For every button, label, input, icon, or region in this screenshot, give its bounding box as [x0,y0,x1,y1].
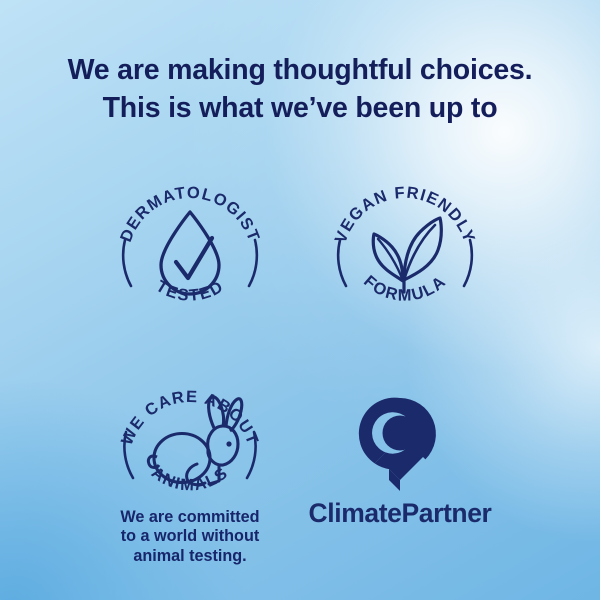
caption-line-3: animal testing. [100,547,280,566]
caption-line-1: We are committed [100,508,280,527]
badge-dermatologist-tested: DERMATOLOGIST TESTED [105,168,275,338]
climatepartner-logo: ClimatePartner [300,392,500,529]
badge-ring-arc-left [123,240,131,286]
climatepartner-ring-icon [354,392,446,492]
badge-top-text: VEGAN FRIENDLY [332,184,479,246]
badge-ring-arc-left [338,240,346,286]
badge-we-care-about-animals: WE CARE ABOUT ANIMALS [105,362,275,532]
climatepartner-wordmark: ClimatePartner [300,498,500,529]
caption-line-2: to a world without [100,527,280,546]
animal-testing-caption: We are committed to a world without anim… [100,508,280,566]
headline-line-2: This is what we’ve been up to [0,90,600,128]
promo-poster: We are making thoughtful choices. This i… [0,0,600,600]
headline-line-1: We are making thoughtful choices. [0,52,600,90]
badge-ring-arc-right [249,240,257,286]
badge-vegan-friendly-formula: VEGAN FRIENDLY FORMULA [320,168,490,338]
badge-ring-arc-right [464,240,472,286]
page-title: We are making thoughtful choices. This i… [0,52,600,128]
water-drop-check-icon [161,212,219,294]
